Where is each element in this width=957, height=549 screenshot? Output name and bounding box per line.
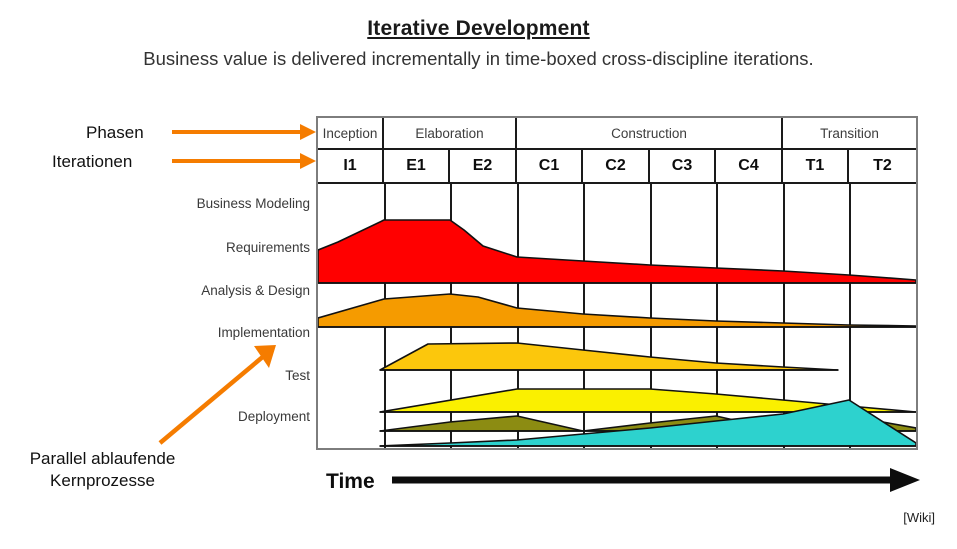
discipline-label-implementation: Implementation (120, 325, 310, 340)
annotation-label-iterationen: Iterationen (52, 152, 132, 172)
hump-analysis-design (380, 343, 838, 370)
title-block: Iterative Development Business value is … (0, 16, 957, 71)
phase-cell-inception: Inception (318, 118, 384, 150)
iteration-cell-c2: C2 (583, 150, 650, 184)
phase-header-row: Inception Elaboration Construction Trans… (318, 118, 916, 150)
phase-cell-elaboration: Elaboration (384, 118, 517, 150)
time-axis-arrow-icon (392, 466, 920, 494)
hump-business-modeling (318, 220, 916, 283)
page-title: Iterative Development (0, 16, 957, 42)
annotation-label-phasen: Phasen (86, 123, 144, 143)
discipline-label-test: Test (120, 368, 310, 383)
iteration-cell-c4: C4 (716, 150, 783, 184)
arrow-iterationen-icon (172, 153, 316, 169)
iteration-cell-i1: I1 (318, 150, 384, 184)
iteration-cell-c3: C3 (650, 150, 716, 184)
discipline-label-deployment: Deployment (120, 409, 310, 424)
discipline-humps-group (318, 184, 916, 448)
iterative-development-chart: Inception Elaboration Construction Trans… (316, 116, 918, 450)
iteration-cell-e2: E2 (450, 150, 517, 184)
discipline-label-requirements: Requirements (120, 240, 310, 255)
iteration-cell-c1: C1 (517, 150, 583, 184)
annotation-label-parallel-kernprozesse: Parallel ablaufende Kernprozesse (5, 448, 200, 492)
iteration-cell-t2: T2 (849, 150, 916, 184)
source-credit: [Wiki] (903, 510, 935, 525)
discipline-label-business-modeling: Business Modeling (120, 196, 310, 211)
page-subtitle: Business value is delivered incrementall… (0, 47, 957, 71)
iteration-cell-t1: T1 (783, 150, 849, 184)
plot-area (318, 184, 916, 448)
time-axis-label: Time (326, 470, 375, 494)
discipline-label-analysis-design: Analysis & Design (120, 283, 310, 298)
phase-cell-transition: Transition (783, 118, 916, 150)
iteration-cell-e1: E1 (384, 150, 450, 184)
hump-requirements (318, 294, 916, 327)
iteration-header-row: I1 E1 E2 C1 C2 C3 C4 T1 T2 (318, 150, 916, 184)
arrow-phasen-icon (172, 124, 316, 140)
arrow-parallel-kernprozesse-icon (160, 345, 276, 443)
phase-cell-construction: Construction (517, 118, 783, 150)
